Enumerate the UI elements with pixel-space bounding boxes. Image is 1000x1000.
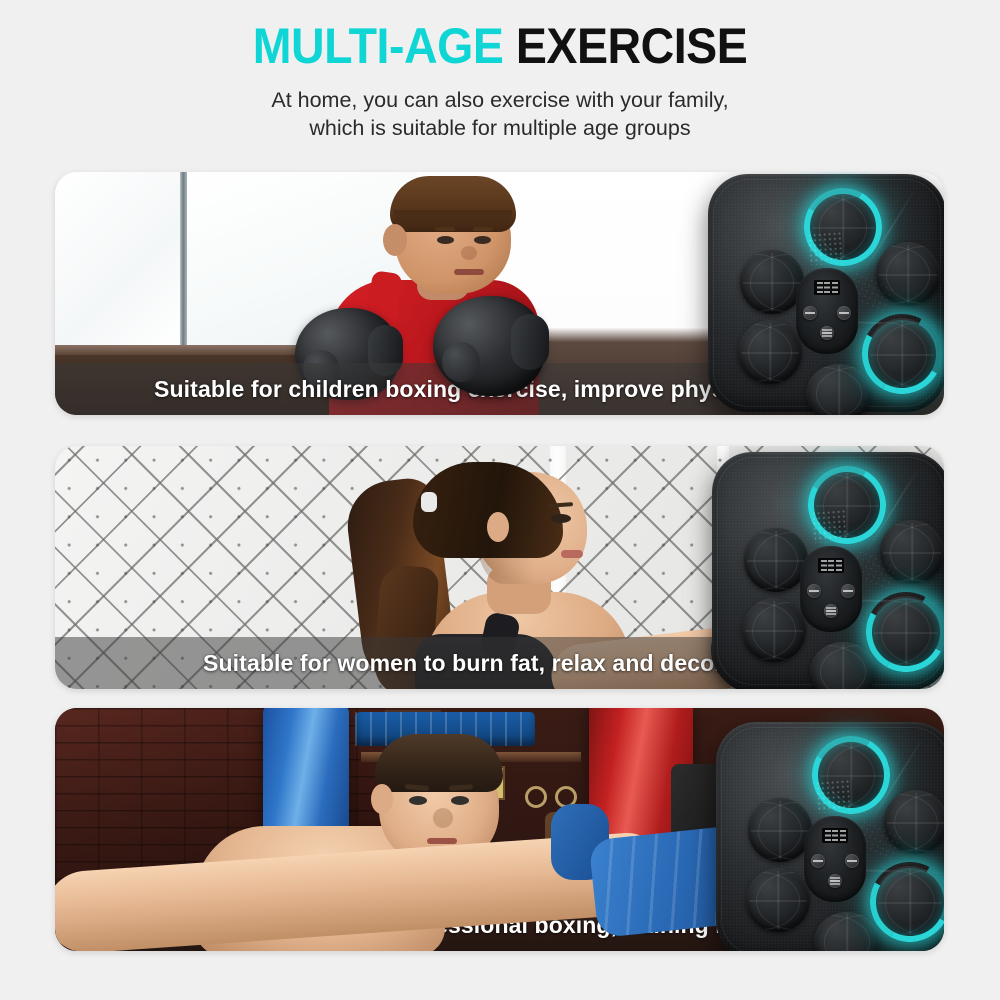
smart-boxing-pad-device [708, 174, 944, 412]
child-eyebrow-right [473, 227, 493, 231]
mode-button[interactable] [828, 874, 842, 888]
boxing-glove-right [433, 296, 545, 396]
child-eye-left [437, 236, 454, 244]
display-segment [825, 830, 831, 841]
speaker-grille [811, 509, 849, 543]
woman-lips [561, 550, 583, 558]
display-segment [832, 830, 838, 841]
minus-button[interactable] [803, 306, 817, 320]
pad-line-pattern [745, 630, 803, 632]
display-segment [817, 282, 823, 293]
pad-line-pattern [743, 282, 801, 284]
display-segment [821, 560, 827, 571]
target-pad-top-left[interactable] [744, 528, 808, 592]
male-mouth [427, 838, 457, 844]
digital-display [822, 828, 848, 843]
woman-ear [487, 512, 509, 542]
pad-line-pattern [747, 560, 805, 562]
glove-thumb [442, 342, 480, 382]
target-pad-top-left[interactable] [740, 250, 804, 314]
page-title-highlight: MULTI-AGE [253, 18, 504, 74]
plus-button[interactable] [841, 584, 855, 598]
target-pad-bottom-left[interactable] [746, 868, 810, 932]
digital-display [818, 558, 844, 573]
display-segment [836, 560, 842, 571]
feature-panel-children: Suitable for children boxing exercise, i… [55, 172, 944, 415]
child-nose [461, 246, 477, 260]
woman-eye [551, 514, 571, 523]
minus-button[interactable] [807, 584, 821, 598]
child-eye-right [474, 236, 491, 244]
display-segment [824, 282, 830, 293]
male-ear [371, 784, 393, 814]
target-pad-bottom-center[interactable] [810, 642, 876, 689]
pad-line-pattern [838, 366, 840, 415]
panel-caption: Suitable for women to burn fat, relax an… [203, 650, 797, 677]
digital-display [814, 280, 840, 295]
display-segment [832, 282, 838, 293]
hair-tie [421, 492, 437, 512]
page-title-rest: EXERCISE [516, 18, 747, 74]
page-title: MULTI-AGE EXERCISE [35, 16, 965, 76]
pad-line-pattern [879, 274, 937, 276]
speaker-grille [815, 779, 853, 813]
page-bottom-margin [0, 978, 1000, 1000]
pad-line-pattern [751, 830, 809, 832]
window-glass-left [55, 172, 180, 345]
child-eyebrow-left [435, 227, 455, 231]
pad-line-pattern [883, 552, 941, 554]
mode-button[interactable] [820, 326, 834, 340]
control-panel [796, 268, 858, 354]
male-nose [433, 808, 453, 828]
pad-line-pattern [749, 900, 807, 902]
display-segment [828, 560, 834, 571]
control-panel [800, 546, 862, 632]
child-mouth [454, 269, 484, 275]
infographic-page: MULTI-AGE EXERCISE At home, you can also… [0, 0, 1000, 1000]
display-segment [840, 830, 846, 841]
pad-line-pattern [887, 822, 944, 824]
target-pad-bottom-left[interactable] [738, 320, 802, 384]
page-subtitle-line-1: At home, you can also exercise with your… [0, 86, 1000, 114]
target-pad-top-left[interactable] [748, 798, 812, 862]
male-eye-right [451, 796, 469, 805]
page-subtitle-line-2: which is suitable for multiple age group… [0, 114, 1000, 142]
target-pad-bottom-center[interactable] [814, 912, 880, 951]
control-panel [804, 816, 866, 902]
scene-male-boxing [55, 708, 944, 951]
page-subtitle: At home, you can also exercise with your… [0, 86, 1000, 142]
smart-boxing-pad-device [716, 722, 944, 951]
male-hair [375, 734, 503, 792]
speaker-grille [807, 231, 845, 265]
pad-line-pattern [842, 644, 844, 689]
target-pad-bottom-left[interactable] [742, 598, 806, 662]
mode-button[interactable] [824, 604, 838, 618]
male-eye-left [409, 796, 427, 805]
header: MULTI-AGE EXERCISE At home, you can also… [0, 0, 1000, 142]
plus-button[interactable] [845, 854, 859, 868]
feature-panel-male: Suitable for male professional boxing, t… [55, 708, 944, 951]
target-pad-bottom-center[interactable] [806, 364, 872, 415]
pad-line-pattern [741, 352, 799, 354]
feature-panel-women: Suitable for women to burn fat, relax an… [55, 446, 944, 689]
plus-button[interactable] [837, 306, 851, 320]
glove-cuff [511, 314, 549, 370]
smart-boxing-pad-device [712, 452, 944, 689]
pad-line-pattern [846, 914, 848, 951]
window-frame [180, 172, 187, 345]
child-ear [383, 224, 407, 256]
minus-button[interactable] [811, 854, 825, 868]
